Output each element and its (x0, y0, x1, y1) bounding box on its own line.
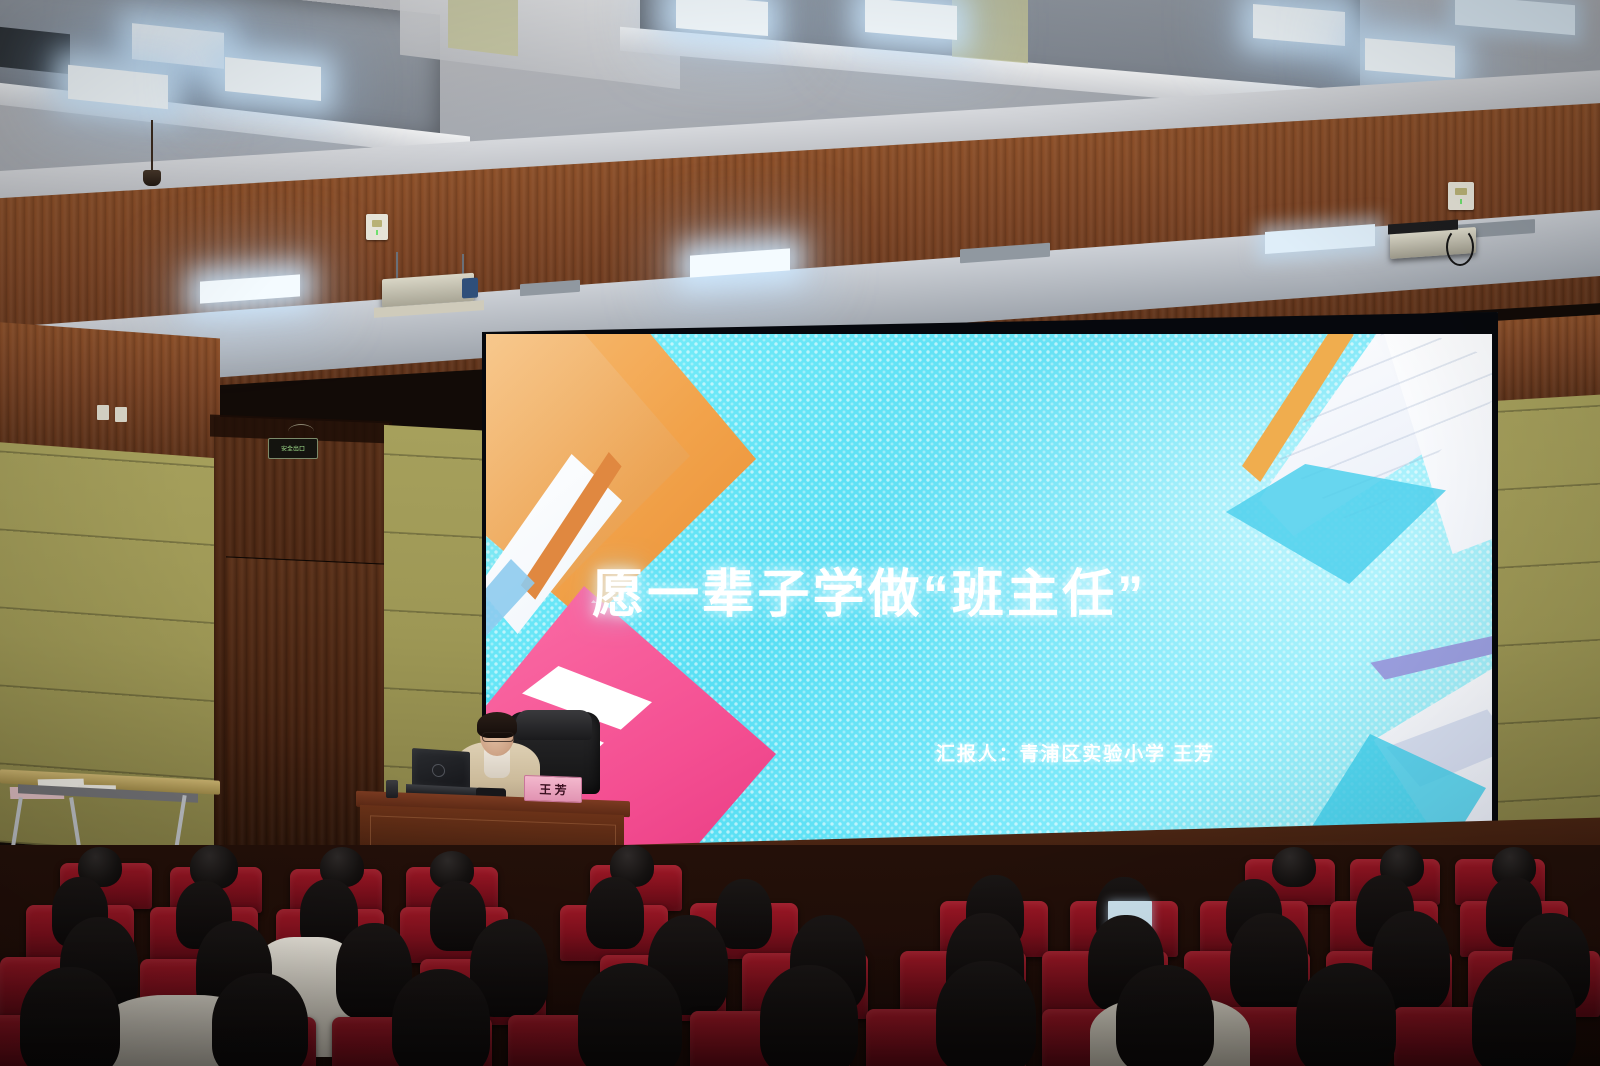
exit-sign-label: 安全出口 (281, 444, 305, 453)
wall-outlet-2 (115, 407, 127, 422)
projector-right (1382, 216, 1502, 276)
speaker-grille-left (372, 220, 382, 227)
projector-cable-right (1446, 228, 1474, 266)
desk-nameplate: 王 芳 (524, 775, 582, 803)
speaker-grille-right (1455, 188, 1467, 195)
wall-outlet-1 (97, 405, 109, 420)
audience-vignette (0, 845, 1600, 1066)
white-book-shadow (1226, 464, 1446, 584)
projector-lens-left (462, 277, 478, 298)
presenter-desk: 王 芳 (358, 700, 628, 860)
wall-speaker-right (1448, 182, 1474, 210)
desk-bottle (386, 780, 398, 798)
projector-mount-left (396, 252, 398, 278)
led-screen-assembly: 愿一辈子学做“班主任” 汇报人：青浦区实验小学 王芳 (478, 312, 1498, 872)
pendant-shade (143, 170, 161, 186)
slide-presenter-line: 汇报人：青浦区实验小学 王芳 (936, 739, 1215, 766)
ceiling-recess-dark-left (0, 26, 70, 74)
ceiling-recess-khaki-mid (448, 0, 518, 56)
pendant-light (140, 120, 164, 192)
wall-wood-left-upper (0, 322, 220, 459)
white-open-book-graphic (1186, 334, 1492, 594)
ceiling-recess-khaki-right (952, 0, 1028, 63)
presenter-glasses (482, 732, 514, 742)
exit-sign: 安全出口 (268, 438, 318, 459)
br-book-lavender-edge (1356, 628, 1492, 688)
speaker-led-left (376, 230, 378, 235)
chair-headrest (516, 710, 592, 740)
desk-nameplate-label: 王 芳 (539, 780, 566, 798)
exit-sign-hanger (288, 424, 314, 439)
laptop-logo (432, 764, 445, 778)
presenter-laptop[interactable] (410, 750, 478, 796)
pendant-rod (151, 120, 153, 172)
projector-left (378, 252, 488, 322)
slide-title: 愿一辈子学做“班主任” (592, 552, 1146, 627)
slide-screen[interactable]: 愿一辈子学做“班主任” 汇报人：青浦区实验小学 王芳 (486, 334, 1492, 864)
audience-area (0, 845, 1600, 1066)
auditorium-photo: 安全出口 (0, 0, 1600, 1066)
wall-speaker-left (366, 214, 388, 240)
speaker-led-right (1460, 199, 1462, 204)
